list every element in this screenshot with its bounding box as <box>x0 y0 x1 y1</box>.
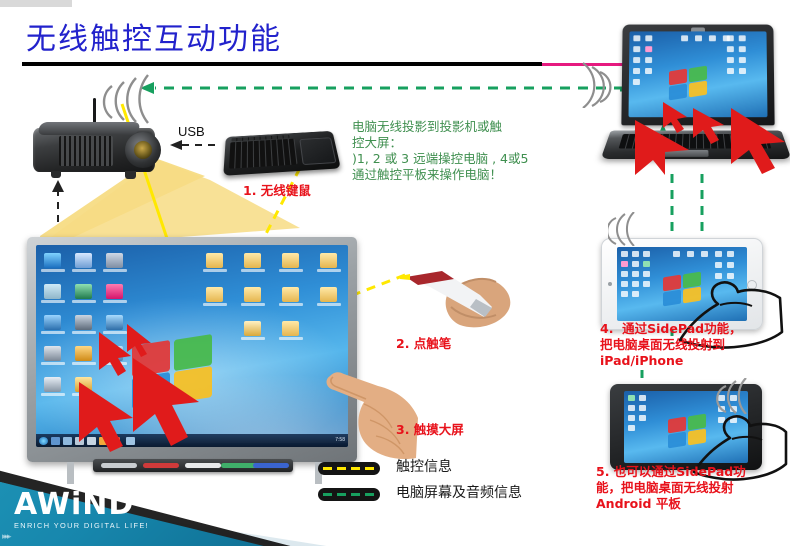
legend-dash-yellow <box>323 467 375 470</box>
laptop-red-cursor-group <box>605 60 790 175</box>
page-title: 无线触控互动功能 <box>26 14 282 58</box>
red-cursor-group <box>69 322 249 452</box>
keyboard-keys <box>229 139 298 169</box>
pointing-hand <box>300 358 420 473</box>
wifi-arc-icon-laptop <box>566 62 612 108</box>
legend-label-screen: 电脑屏幕及音频信息 <box>396 485 522 503</box>
projector-foot-left <box>51 171 61 178</box>
step-2-label: 2. 点触笔 <box>396 336 451 352</box>
step-3-label: 3. 触摸大屏 <box>396 422 464 438</box>
wifi-arc-icon-ipad <box>608 212 648 246</box>
projector <box>33 120 163 178</box>
projector-vent <box>59 136 113 166</box>
slide-canvas: 无线触控互动功能 <box>0 0 790 546</box>
step-5-label: 5. 也可以通过SidePad功 能，把电脑桌面无线投射 Android 平板 <box>596 464 746 512</box>
legend-label-touch: 触控信息 <box>396 459 452 477</box>
projector-foot-right <box>125 171 136 179</box>
awind-tagline: ENRICH YOUR DIGITAL LIFE! <box>14 521 149 530</box>
legend-dash-green <box>323 493 375 496</box>
top-sliver <box>0 0 72 7</box>
awind-logo: AWiND ENRICH YOUR DIGITAL LIFE! <box>14 490 149 530</box>
step-1-label: 1. 无线键鼠 <box>243 183 311 199</box>
awind-logo-text: AWiND <box>14 490 149 520</box>
usb-label: USB <box>178 124 205 141</box>
footer-banner: AWiND ENRICH YOUR DIGITAL LIFE! ▸▸▸ <box>0 468 330 546</box>
wifi-arc-icon <box>96 74 166 124</box>
wireless-keyboard <box>223 131 341 176</box>
projector-lens <box>134 141 152 159</box>
keyboard-touchpad <box>299 137 336 165</box>
ipad-camera <box>608 282 612 286</box>
stylus-pen <box>396 255 521 340</box>
callout-text: 电脑无线投影到投影机或触 控大屏： )1, 2 或 3 远端操控电脑 , 4或5… <box>352 119 528 183</box>
step-4-label: 4. 通过SidePad功能， 把电脑桌面无线投射到 iPad/iPhone <box>600 321 742 369</box>
title-rule <box>22 62 542 66</box>
footer-arrow-decor: ▸▸▸ <box>2 531 10 542</box>
